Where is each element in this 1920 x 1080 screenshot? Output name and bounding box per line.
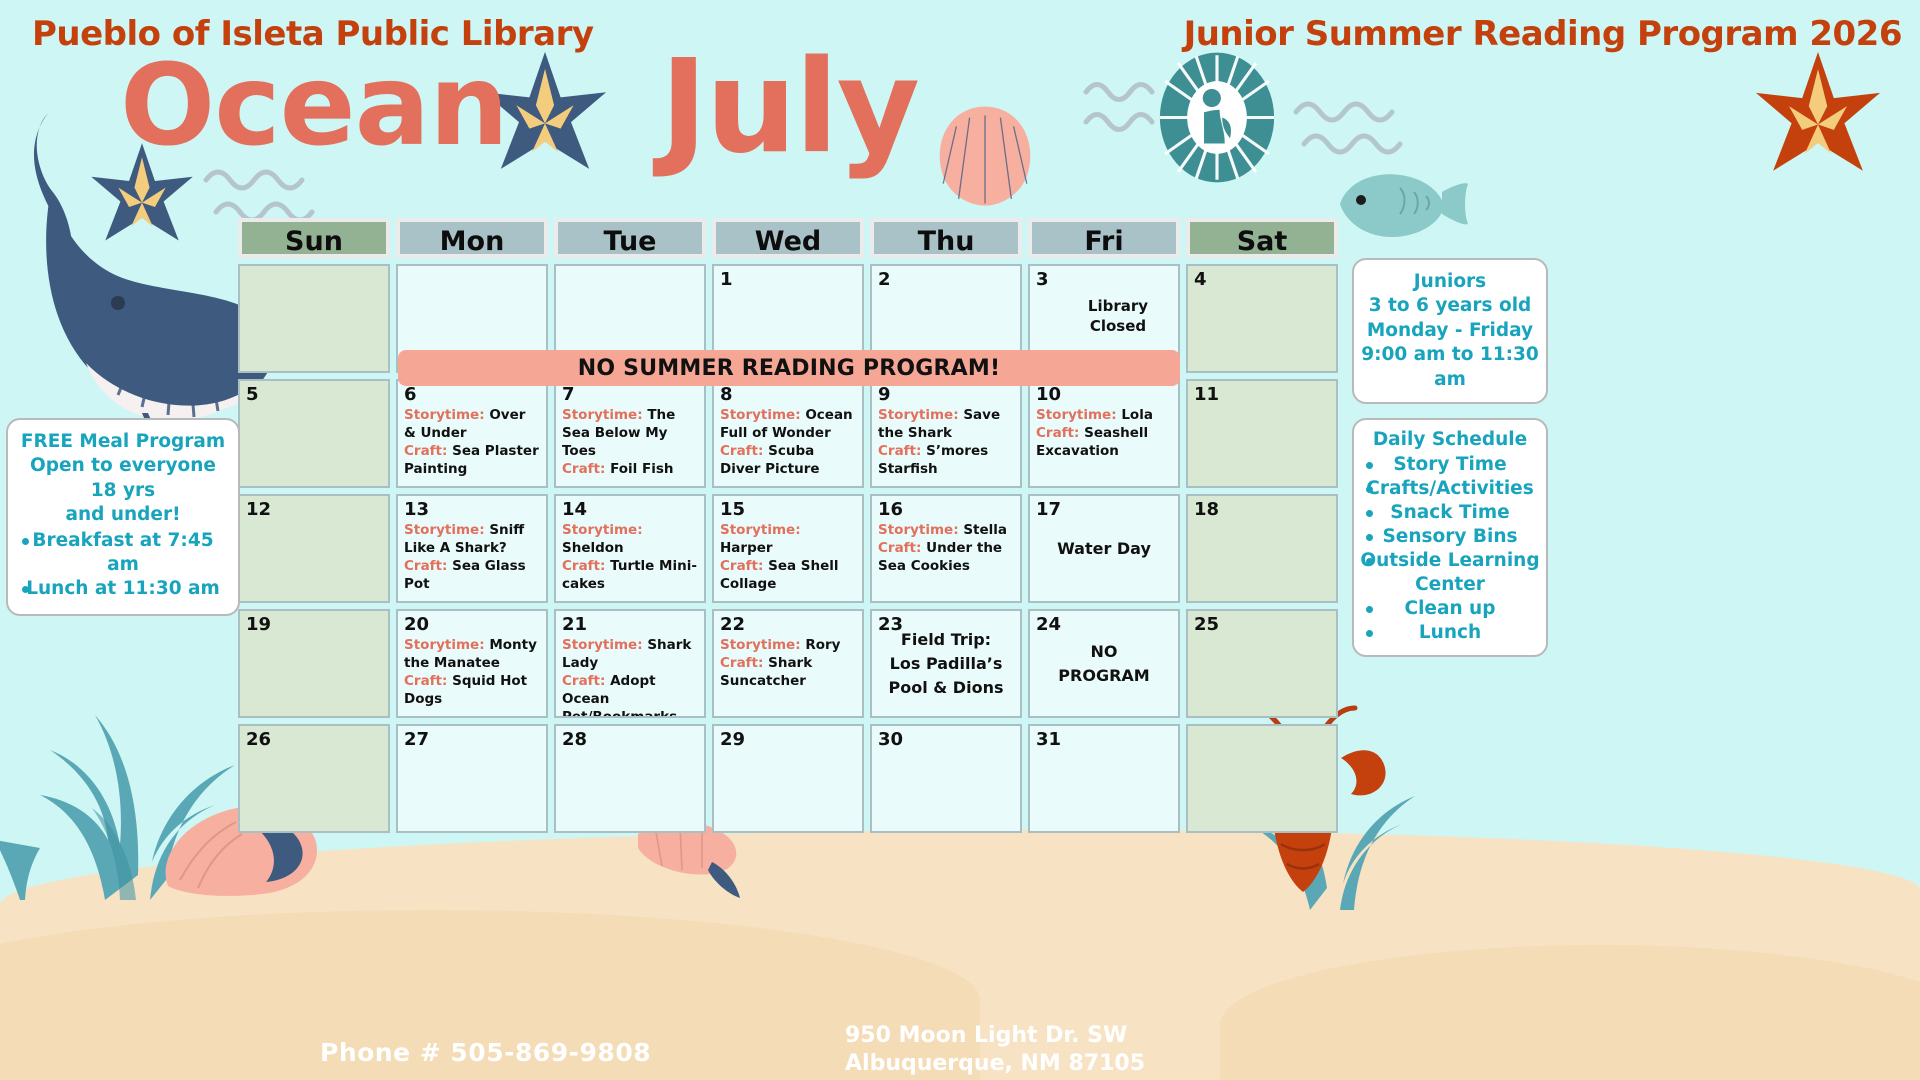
storytime-entry: Storytime: Harper	[720, 522, 856, 558]
day-number: 16	[878, 500, 1014, 520]
day-note: Field Trip: Los Padilla’s Pool & Dions	[872, 628, 1020, 700]
daily-schedule-info-box: Daily Schedule Story TimeCrafts/Activiti…	[1352, 418, 1548, 657]
day-number: 9	[878, 385, 1014, 405]
craft-entry: Craft: Under the Sea Cookies	[878, 540, 1014, 576]
calendar-day-cell-16[interactable]: 16Storytime: StellaCraft: Under the Sea …	[870, 494, 1022, 603]
calendar-week-row: 262728293031	[238, 724, 1338, 833]
storytime-label: Storytime:	[562, 407, 647, 423]
dow-tue: Tue	[554, 218, 706, 258]
storytime-label: Storytime:	[878, 407, 963, 423]
calendar-day-cell-29[interactable]: 29	[712, 724, 864, 833]
storytime-entry: Storytime: Shark Lady	[562, 637, 698, 673]
storytime-value: Lola	[1121, 407, 1153, 423]
list-item: Lunch	[1360, 621, 1540, 645]
calendar-day-cell-6[interactable]: 6Storytime: Over & UnderCraft: Sea Plast…	[396, 379, 548, 488]
wave-squiggle-icon	[1080, 72, 1240, 144]
day-number: 1	[720, 270, 856, 290]
calendar-day-cell-25[interactable]: 25	[1186, 609, 1338, 718]
list-item: Clean up	[1360, 597, 1540, 621]
calendar-day-cell-28[interactable]: 28	[554, 724, 706, 833]
calendar-weeks: 123Library Closed4NO SUMMER READING PROG…	[238, 264, 1338, 833]
day-of-week-header-row: Sun Mon Tue Wed Thu Fri Sat	[238, 218, 1338, 258]
craft-label: Craft:	[878, 540, 926, 556]
storytime-entry: Storytime: Sheldon	[562, 522, 698, 558]
calendar-day-cell-26[interactable]: 26	[238, 724, 390, 833]
program-title: Junior Summer Reading Program 2026	[1184, 14, 1902, 54]
day-number: 15	[720, 500, 856, 520]
storytime-label: Storytime:	[404, 637, 489, 653]
storytime-entry: Storytime: The Sea Below My Toes	[562, 407, 698, 461]
storytime-label: Storytime:	[1036, 407, 1121, 423]
juniors-line-3: Monday - Friday	[1360, 319, 1540, 343]
day-number: 25	[1194, 615, 1330, 635]
craft-label: Craft:	[404, 558, 452, 574]
calendar-day-cell-23[interactable]: 23Field Trip: Los Padilla’s Pool & Dions	[870, 609, 1022, 718]
storytime-entry: Storytime: Rory	[720, 637, 856, 655]
meal-bullet-list: Breakfast at 7:45 am Lunch at 11:30 am	[16, 529, 230, 602]
calendar-day-cell-empty[interactable]	[1186, 724, 1338, 833]
meal-line-3: and under!	[16, 503, 230, 527]
storytime-entry: Storytime: Ocean Full of Wonder	[720, 407, 856, 443]
address: 950 Moon Light Dr. SW Albuquerque, NM 87…	[845, 1022, 1145, 1077]
calendar-day-cell-7[interactable]: 7Storytime: The Sea Below My ToesCraft: …	[554, 379, 706, 488]
library-logo-icon	[1152, 50, 1282, 185]
storytime-label: Storytime:	[720, 522, 801, 538]
dow-sun: Sun	[238, 218, 390, 258]
day-number: 7	[562, 385, 698, 405]
craft-label: Craft:	[404, 443, 452, 459]
address-line-1: 950 Moon Light Dr. SW	[845, 1022, 1145, 1050]
craft-label: Craft:	[404, 673, 452, 689]
storytime-label: Storytime:	[404, 522, 489, 538]
storytime-label: Storytime:	[404, 407, 489, 423]
calendar-day-cell-17[interactable]: 17Water Day	[1028, 494, 1180, 603]
daily-schedule-item-7: Lunch	[1419, 622, 1481, 643]
dow-wed: Wed	[712, 218, 864, 258]
day-number: 10	[1036, 385, 1172, 405]
craft-label: Craft:	[720, 443, 768, 459]
list-item: Snack Time	[1360, 501, 1540, 525]
storytime-value: Stella	[963, 522, 1007, 538]
calendar-day-cell-18[interactable]: 18	[1186, 494, 1338, 603]
day-number: 18	[1194, 500, 1330, 520]
craft-label: Craft:	[562, 673, 610, 689]
storytime-value: Sheldon	[562, 540, 624, 556]
list-item: Story Time	[1360, 453, 1540, 477]
storytime-entry: Storytime: Over & Under	[404, 407, 540, 443]
calendar-day-cell-24[interactable]: 24NO PROGRAM	[1028, 609, 1180, 718]
storytime-entry: Storytime: Stella	[878, 522, 1014, 540]
bullet-icon	[1366, 510, 1373, 517]
day-number: 22	[720, 615, 856, 635]
day-number: 21	[562, 615, 698, 635]
storytime-label: Storytime:	[562, 637, 647, 653]
storytime-entry: Storytime: Lola	[1036, 407, 1172, 425]
juniors-info-box: Juniors 3 to 6 years old Monday - Friday…	[1352, 258, 1548, 404]
calendar-day-cell-31[interactable]: 31	[1028, 724, 1180, 833]
storytime-label: Storytime:	[878, 522, 963, 538]
daily-schedule-item-4: Sensory Bins	[1382, 526, 1517, 547]
calendar-day-cell-5[interactable]: 5	[238, 379, 390, 488]
daily-schedule-item-5: Outside Learning Center	[1360, 550, 1539, 595]
calendar-day-cell-11[interactable]: 11	[1186, 379, 1338, 488]
craft-label: Craft:	[562, 461, 610, 477]
bullet-icon	[1366, 462, 1373, 469]
day-number: 8	[720, 385, 856, 405]
daily-schedule-item-1: Story Time	[1393, 454, 1506, 475]
day-number: 13	[404, 500, 540, 520]
day-number: 14	[562, 500, 698, 520]
calendar-day-cell-10[interactable]: 10Storytime: LolaCraft: Seashell Excavat…	[1028, 379, 1180, 488]
calendar-day-cell-15[interactable]: 15Storytime: HarperCraft: Sea Shell Coll…	[712, 494, 864, 603]
day-number: 4	[1194, 270, 1330, 290]
day-number: 30	[878, 730, 1014, 750]
juniors-line-4: 9:00 am to 11:30 am	[1360, 343, 1540, 392]
day-number: 24	[1036, 615, 1172, 635]
list-item: Crafts/Activities	[1360, 477, 1540, 501]
theme-word: Ocean	[120, 50, 508, 162]
wave-squiggle-icon	[1290, 92, 1470, 164]
storytime-entry: Storytime: Monty the Manatee	[404, 637, 540, 673]
day-number: 5	[246, 385, 382, 405]
daily-schedule-item-3: Snack Time	[1390, 502, 1509, 523]
day-number: 31	[1036, 730, 1172, 750]
no-program-banner: NO SUMMER READING PROGRAM!	[398, 350, 1180, 386]
craft-entry: Craft: Scuba Diver Picture	[720, 443, 856, 479]
storytime-label: Storytime:	[720, 637, 805, 653]
calendar-day-cell-12[interactable]: 12	[238, 494, 390, 603]
calendar-day-cell-22[interactable]: 22Storytime: RoryCraft: Shark Suncatcher	[712, 609, 864, 718]
list-item: Sensory Bins	[1360, 525, 1540, 549]
day-number: 19	[246, 615, 382, 635]
day-number: 28	[562, 730, 698, 750]
day-number: 2	[878, 270, 1014, 290]
starfish-icon	[1752, 48, 1884, 180]
list-item: Outside Learning Center	[1360, 549, 1540, 597]
craft-entry: Craft: Sea Shell Collage	[720, 558, 856, 594]
dow-fri: Fri	[1028, 218, 1180, 258]
juniors-line-1: Juniors	[1360, 270, 1540, 294]
calendar-day-cell-13[interactable]: 13Storytime: Sniff Like A Shark?Craft: S…	[396, 494, 548, 603]
day-note: Water Day	[1030, 537, 1178, 561]
calendar-day-cell-8[interactable]: 8Storytime: Ocean Full of WonderCraft: S…	[712, 379, 864, 488]
dow-thu: Thu	[870, 218, 1022, 258]
calendar-day-cell-21[interactable]: 21Storytime: Shark LadyCraft: Adopt Ocea…	[554, 609, 706, 718]
calendar-day-cell-20[interactable]: 20Storytime: Monty the ManateeCraft: Squ…	[396, 609, 548, 718]
meal-program-info-box: FREE Meal Program Open to everyone 18 yr…	[6, 418, 240, 616]
day-number: 3	[1036, 270, 1172, 290]
calendar-day-cell-4[interactable]: 4	[1186, 264, 1338, 373]
day-number: 26	[246, 730, 382, 750]
bullet-icon	[1366, 630, 1373, 637]
day-number: 17	[1036, 500, 1172, 520]
meal-bullet-1: Breakfast at 7:45 am	[32, 530, 213, 575]
seashell-icon	[930, 100, 1040, 210]
daily-schedule-item-2: Crafts/Activities	[1366, 478, 1533, 499]
craft-label: Craft:	[720, 655, 768, 671]
fish-icon	[1330, 162, 1470, 240]
day-number: 20	[404, 615, 540, 635]
day-note: Library Closed	[1064, 296, 1172, 337]
month-title: July	[660, 44, 918, 172]
craft-entry: Craft: Turtle Mini-cakes	[562, 558, 698, 594]
calendar-day-cell-30[interactable]: 30	[870, 724, 1022, 833]
craft-entry: Craft: Squid Hot Dogs	[404, 673, 540, 709]
storytime-entry: Storytime: Save the Shark	[878, 407, 1014, 443]
day-number: 27	[404, 730, 540, 750]
day-number: 6	[404, 385, 540, 405]
day-number: 12	[246, 500, 382, 520]
meal-line-2: Open to everyone 18 yrs	[16, 454, 230, 503]
address-line-2: Albuquerque, NM 87105	[845, 1050, 1145, 1078]
daily-schedule-title: Daily Schedule	[1360, 428, 1540, 452]
craft-entry: Craft: Foil Fish	[562, 461, 698, 479]
list-item: Lunch at 11:30 am	[16, 577, 230, 601]
day-note: NO PROGRAM	[1030, 640, 1178, 688]
juniors-line-2: 3 to 6 years old	[1360, 294, 1540, 318]
phone-number: Phone # 505-869-9808	[320, 1038, 651, 1067]
calendar-week-row: 1920Storytime: Monty the ManateeCraft: S…	[238, 609, 1338, 718]
craft-entry: Craft: Sea Plaster Painting	[404, 443, 540, 479]
calendar-week-row: 1213Storytime: Sniff Like A Shark?Craft:…	[238, 494, 1338, 603]
craft-entry: Craft: S’mores Starfish	[878, 443, 1014, 479]
calendar-day-cell-9[interactable]: 9Storytime: Save the SharkCraft: S’mores…	[870, 379, 1022, 488]
calendar-week-row: 123Library Closed4NO SUMMER READING PROG…	[238, 264, 1338, 373]
dow-mon: Mon	[396, 218, 548, 258]
craft-label: Craft:	[562, 558, 610, 574]
daily-schedule-item-6: Clean up	[1405, 598, 1496, 619]
craft-label: Craft:	[720, 558, 768, 574]
meal-bullet-2: Lunch at 11:30 am	[26, 578, 220, 599]
calendar-day-cell-empty[interactable]	[238, 264, 390, 373]
poster-canvas: Pueblo of Isleta Public Library Junior S…	[0, 0, 1920, 1080]
meal-line-1: FREE Meal Program	[16, 430, 230, 454]
calendar-day-cell-14[interactable]: 14Storytime: SheldonCraft: Turtle Mini-c…	[554, 494, 706, 603]
craft-label: Craft:	[878, 443, 926, 459]
calendar-day-cell-19[interactable]: 19	[238, 609, 390, 718]
bullet-icon	[22, 538, 29, 545]
calendar-day-cell-27[interactable]: 27	[396, 724, 548, 833]
storytime-value: Harper	[720, 540, 773, 556]
storytime-value: Rory	[805, 637, 840, 653]
storytime-entry: Storytime: Sniff Like A Shark?	[404, 522, 540, 558]
craft-value: Foil Fish	[610, 461, 673, 477]
storytime-label: Storytime:	[720, 407, 805, 423]
craft-entry: Craft: Seashell Excavation	[1036, 425, 1172, 461]
craft-entry: Craft: Adopt Ocean Pet/Bookmarks	[562, 673, 698, 718]
craft-entry: Craft: Sea Glass Pot	[404, 558, 540, 594]
daily-schedule-list: Story TimeCrafts/ActivitiesSnack TimeSen…	[1360, 453, 1540, 645]
storytime-label: Storytime:	[562, 522, 643, 538]
day-number: 11	[1194, 385, 1330, 405]
day-number: 29	[720, 730, 856, 750]
dow-sat: Sat	[1186, 218, 1338, 258]
list-item: Breakfast at 7:45 am	[16, 529, 230, 578]
calendar-week-row: 56Storytime: Over & UnderCraft: Sea Plas…	[238, 379, 1338, 488]
craft-label: Craft:	[1036, 425, 1084, 441]
bullet-icon	[1366, 534, 1373, 541]
calendar-grid: Sun Mon Tue Wed Thu Fri Sat 123Library C…	[238, 218, 1338, 833]
bullet-icon	[1366, 606, 1373, 613]
craft-entry: Craft: Shark Suncatcher	[720, 655, 856, 691]
